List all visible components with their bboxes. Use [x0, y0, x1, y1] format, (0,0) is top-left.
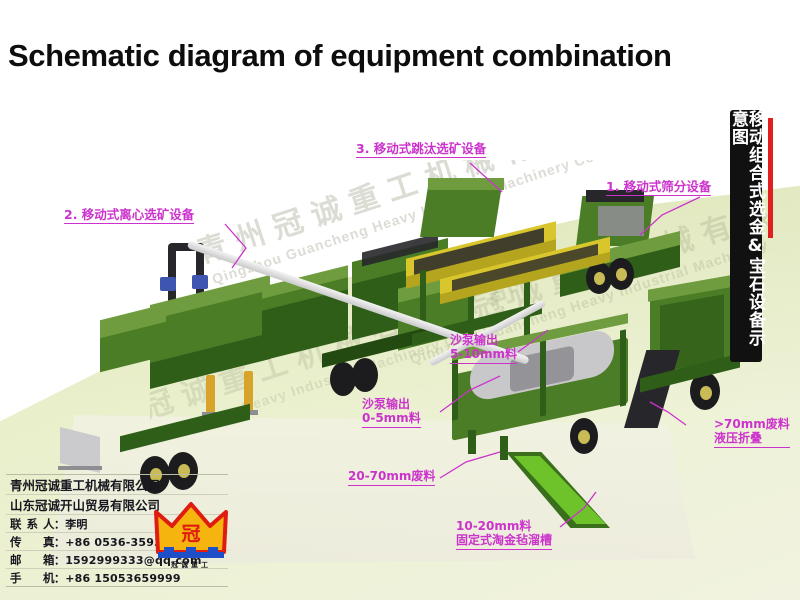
callout-pump-0-5: 沙泵输出 0-5mm料: [362, 398, 421, 428]
callout-waste-70: >70mm废料 液压折叠: [714, 418, 790, 448]
crown-icon: 冠: [152, 500, 230, 562]
vertical-banner: 移动组合式选金&宝石设备示意图: [730, 110, 762, 362]
callout-screening: 1. 移动式筛分设备: [606, 180, 711, 196]
callout-pump-5-10: 沙泵输出 5-10mm料: [450, 334, 517, 364]
callout-waste-20-70: 20-70mm废料: [348, 470, 435, 486]
banner-accent-bar: [768, 118, 773, 238]
contact-mobile: 手 机：+86 15053659999: [6, 569, 228, 586]
slide-canvas: Schematic diagram of equipment combinati…: [0, 0, 800, 600]
callout-sluice-10-20: 10-20mm料 固定式淘金毡溜槽: [456, 520, 552, 550]
callout-centrifugal: 2. 移动式离心选矿设备: [64, 208, 194, 224]
svg-text:冠: 冠: [181, 523, 200, 545]
crown-logo: 冠 冠诚重工: [152, 500, 230, 570]
callout-jig: 3. 移动式跳汰选矿设备: [356, 142, 486, 158]
crown-logo-caption: 冠诚重工: [152, 560, 230, 570]
vertical-banner-text: 移动组合式选金&宝石设备示意图: [729, 110, 763, 362]
page-title: Schematic diagram of equipment combinati…: [8, 38, 672, 74]
contact-company-1: 青州冠诚重工机械有限公司: [6, 475, 228, 495]
